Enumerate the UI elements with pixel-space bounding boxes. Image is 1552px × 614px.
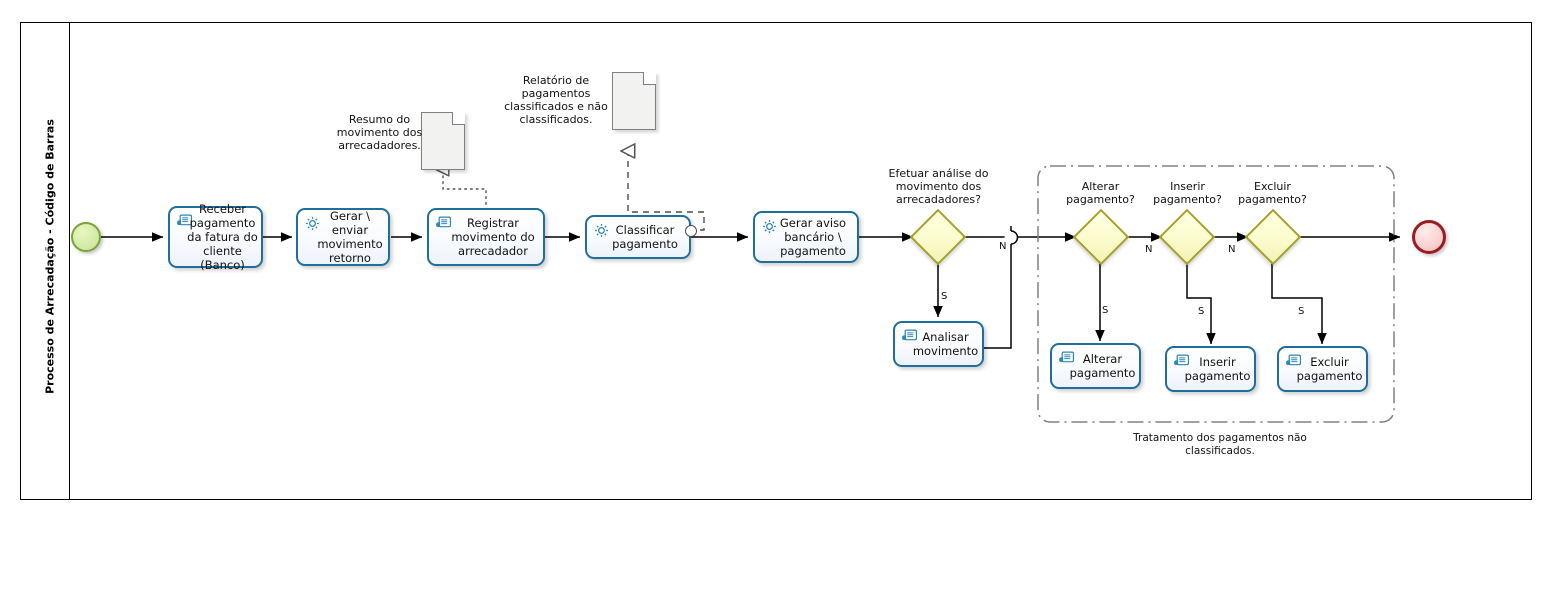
task-alterar-pagamento[interactable]: Alterar pagamento	[1050, 343, 1141, 389]
end-event[interactable]	[1412, 220, 1446, 254]
task-label: Gerar aviso bancário \ pagamento	[755, 216, 857, 258]
task-label: Registrar movimento do arrecadador	[429, 216, 543, 258]
task-gerar-aviso-bancario[interactable]: Gerar aviso bancário \ pagamento	[753, 211, 859, 263]
gateway-label-efetuar-analise: Efetuar análise do movimento dos arrecad…	[876, 167, 1001, 206]
group-label: Tratamento dos pagamentos não classifica…	[1100, 432, 1340, 458]
task-label: Receber pagamento da fatura do cliente (…	[170, 202, 261, 272]
flow-label-g3-yes: S	[1198, 306, 1204, 317]
data-association-connector-dot	[685, 225, 697, 237]
page-fold-corner-icon	[452, 112, 465, 125]
data-object-label-resumo-movimento: Resumo do movimento dos arrecadadores.	[332, 113, 427, 152]
flow-label-g3-no: N	[1145, 244, 1152, 255]
flow-label-g2-yes: S	[1102, 305, 1108, 316]
data-object-resumo-movimento[interactable]	[421, 112, 465, 170]
task-label: Analisar movimento	[895, 330, 982, 358]
gateway-label-excluir-pagamento: Excluir pagamento?	[1225, 180, 1320, 206]
task-receber-pagamento[interactable]: Receber pagamento da fatura do cliente (…	[168, 206, 263, 268]
lane-header: Processo de Arrecadação - Código de Barr…	[20, 22, 70, 500]
task-inserir-pagamento[interactable]: Inserir pagamento	[1165, 346, 1256, 392]
task-gerar-enviar-movimento-retorno[interactable]: Gerar \ enviar movimento retorno	[296, 208, 390, 266]
task-registrar-movimento-arrecadador[interactable]: Registrar movimento do arrecadador	[427, 208, 545, 266]
task-excluir-pagamento[interactable]: Excluir pagamento	[1277, 346, 1368, 392]
task-label: Excluir pagamento	[1279, 355, 1366, 383]
task-label: Classificar pagamento	[587, 223, 689, 251]
bpmn-diagram-canvas: Processo de Arrecadação - Código de Barr…	[0, 0, 1552, 614]
data-object-label-relatorio-pagamentos: Relatório de pagamentos classificados e …	[503, 74, 609, 126]
data-object-relatorio-pagamentos[interactable]	[612, 72, 656, 130]
flow-label-g4-no: N	[1228, 244, 1235, 255]
task-label: Inserir pagamento	[1167, 355, 1254, 383]
task-classificar-pagamento[interactable]: Classificar pagamento	[585, 215, 691, 259]
gateway-label-inserir-pagamento: Inserir pagamento?	[1140, 180, 1235, 206]
task-label: Alterar pagamento	[1052, 352, 1139, 380]
flow-label-g4-yes: S	[1298, 306, 1304, 317]
gateway-label-alterar-pagamento: Alterar pagamento?	[1053, 180, 1148, 206]
flow-label-g1-yes: S	[941, 291, 947, 302]
task-label: Gerar \ enviar movimento retorno	[298, 209, 388, 265]
lane-title: Processo de Arrecadação - Código de Barr…	[44, 17, 57, 497]
page-fold-corner-icon	[643, 72, 656, 85]
start-event[interactable]	[71, 222, 101, 252]
task-analisar-movimento[interactable]: Analisar movimento	[893, 321, 984, 367]
flow-label-g1-no: N	[999, 241, 1006, 252]
